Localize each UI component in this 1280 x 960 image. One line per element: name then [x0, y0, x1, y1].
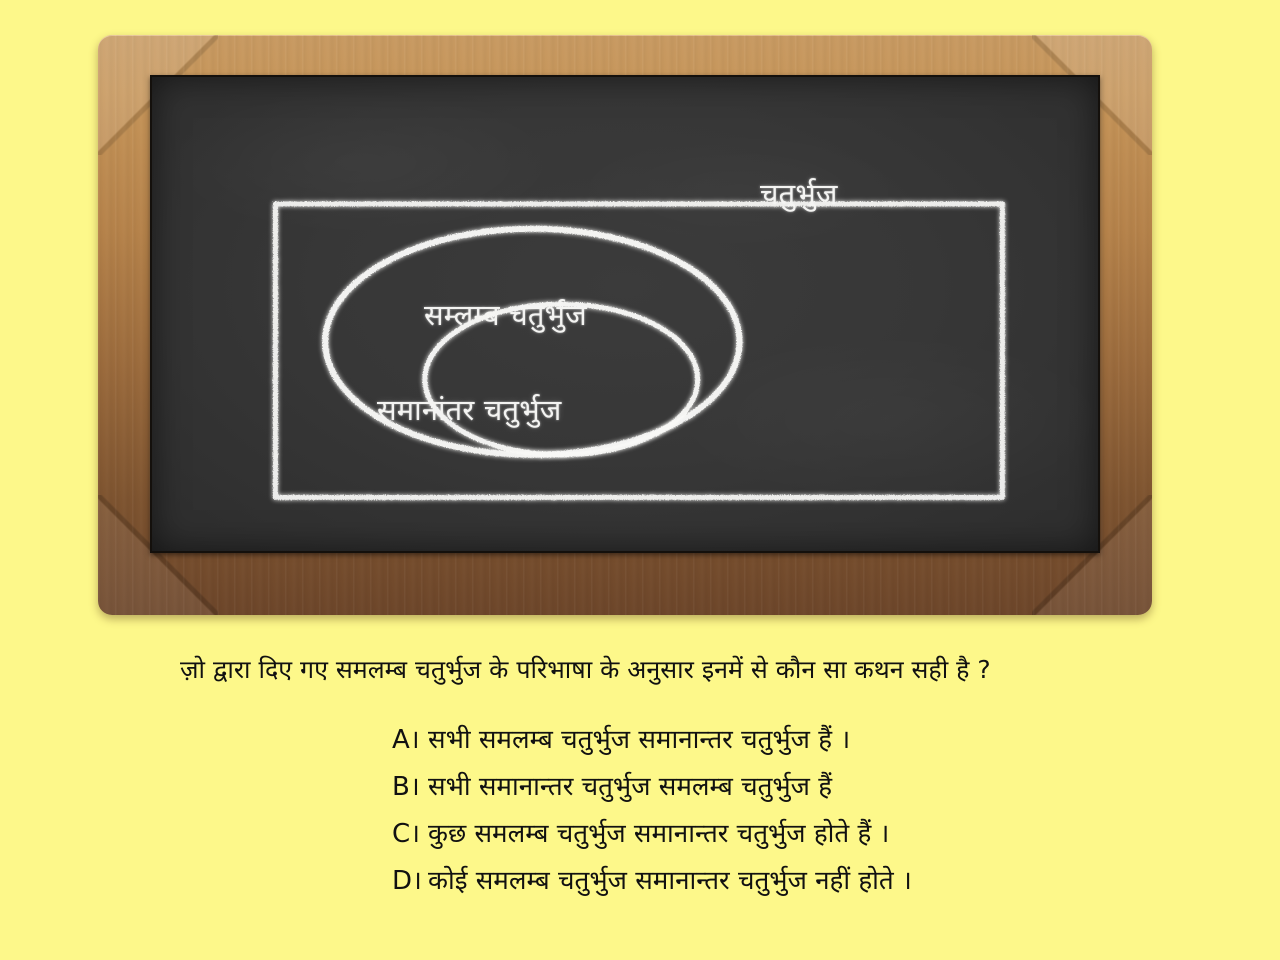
label-trapeziums: सम्लम्ब चतुर्भुज [424, 295, 587, 334]
option-a[interactable]: A। सभी समलम्ब चतुर्भुज समानान्तर चतुर्भु… [392, 720, 1192, 767]
option-c-key: C। [392, 814, 428, 850]
shape-quadrilaterals-rectangle [275, 204, 1002, 498]
chalkboard-slate-surface: चतुर्भुज सम्लम्ब चतुर्भुज समानांतर चतुर्… [150, 75, 1100, 553]
option-a-key: A। [392, 720, 428, 756]
label-quadrilaterals: चतुर्भुज [760, 174, 838, 213]
options-list: A। सभी समलम्ब चतुर्भुज समानान्तर चतुर्भु… [392, 720, 1192, 908]
option-a-text: सभी समलम्ब चतुर्भुज समानान्तर चतुर्भुज ह… [428, 720, 850, 756]
option-c[interactable]: C। कुछ समलम्ब चतुर्भुज समानान्तर चतुर्भु… [392, 814, 1192, 861]
option-b[interactable]: B। सभी समानान्तर चतुर्भुज समलम्ब चतुर्भु… [392, 767, 1192, 814]
option-d-text: कोई समलम्ब चतुर्भुज समानान्तर चतुर्भुज न… [428, 861, 912, 897]
label-parallelograms: समानांतर चतुर्भुज [377, 390, 562, 429]
question-text: ज़ो द्वारा दिए गए समलम्ब चतुर्भुज के परि… [180, 652, 1180, 686]
option-c-text: कुछ समलम्ब चतुर्भुज समानान्तर चतुर्भुज ह… [428, 814, 889, 850]
chalkboard: चतुर्भुज सम्लम्ब चतुर्भुज समानांतर चतुर्… [98, 35, 1152, 615]
option-b-key: B। [392, 767, 428, 803]
option-d-key: D। [392, 861, 428, 897]
option-b-text: सभी समानान्तर चतुर्भुज समलम्ब चतुर्भुज ह… [428, 767, 832, 803]
option-d[interactable]: D। कोई समलम्ब चतुर्भुज समानान्तर चतुर्भु… [392, 861, 1192, 908]
venn-diagram [152, 77, 1098, 551]
